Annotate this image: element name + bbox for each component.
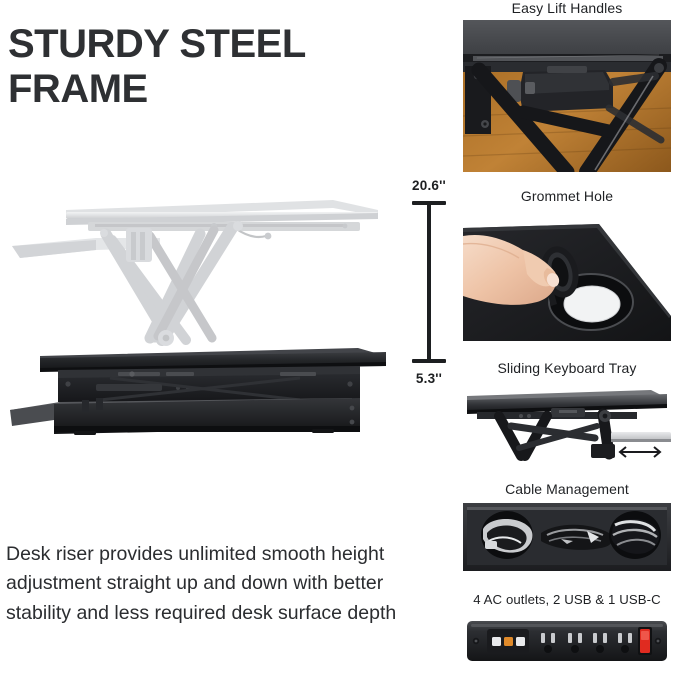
dimension-stem xyxy=(427,203,431,361)
product-raised-ghost xyxy=(12,200,378,346)
feature-caption-keyboard-tray: Sliding Keyboard Tray xyxy=(455,360,679,376)
min-height-label: 5.3'' xyxy=(398,371,460,386)
feature-photo-cable-management xyxy=(463,503,671,571)
dimension-indicator: 20.6'' 5.3'' xyxy=(398,178,460,386)
page-title: STURDY STEEL FRAME xyxy=(8,22,438,112)
dimension-cap-bottom xyxy=(412,359,446,363)
feature-caption-cable-management: Cable Management xyxy=(455,481,679,497)
power-switch xyxy=(638,627,652,655)
usb-c-port xyxy=(504,637,513,646)
usb-a-port-1 xyxy=(492,637,501,646)
feature-photo-power-strip xyxy=(463,613,671,669)
usb-port-group xyxy=(487,629,529,653)
feature-panel-grommet: Grommet Hole xyxy=(455,188,679,341)
product-illustration xyxy=(0,188,400,440)
infographic-page: STURDY STEEL FRAME xyxy=(0,0,679,675)
feature-panel-cable-management: Cable Management xyxy=(455,481,679,571)
feature-photo-grommet xyxy=(463,210,671,341)
description-text: Desk riser provides unlimited smooth hei… xyxy=(6,540,406,628)
feature-panel-keyboard-tray: Sliding Keyboard Tray xyxy=(455,360,679,462)
feature-photo-lift-handles xyxy=(463,20,671,172)
product-lowered-solid xyxy=(10,348,386,435)
feature-caption-power-strip: 4 AC outlets, 2 USB & 1 USB-C xyxy=(455,592,679,607)
usb-a-port-2 xyxy=(516,637,525,646)
feature-caption-grommet: Grommet Hole xyxy=(455,188,679,204)
max-height-label: 20.6'' xyxy=(398,178,460,193)
feature-panel-power-strip: 4 AC outlets, 2 USB & 1 USB-C xyxy=(455,592,679,669)
left-column: STURDY STEEL FRAME xyxy=(0,0,455,675)
cable-hole-right xyxy=(609,511,661,559)
feature-caption-lift-handles: Easy Lift Handles xyxy=(455,0,679,16)
cable-hole-left xyxy=(481,511,533,559)
feature-panel-column: Easy Lift Handles xyxy=(455,0,679,675)
feature-photo-keyboard-tray xyxy=(463,382,671,462)
lift-handle-shape xyxy=(507,66,613,112)
feature-panel-lift-handles: Easy Lift Handles xyxy=(455,0,679,172)
